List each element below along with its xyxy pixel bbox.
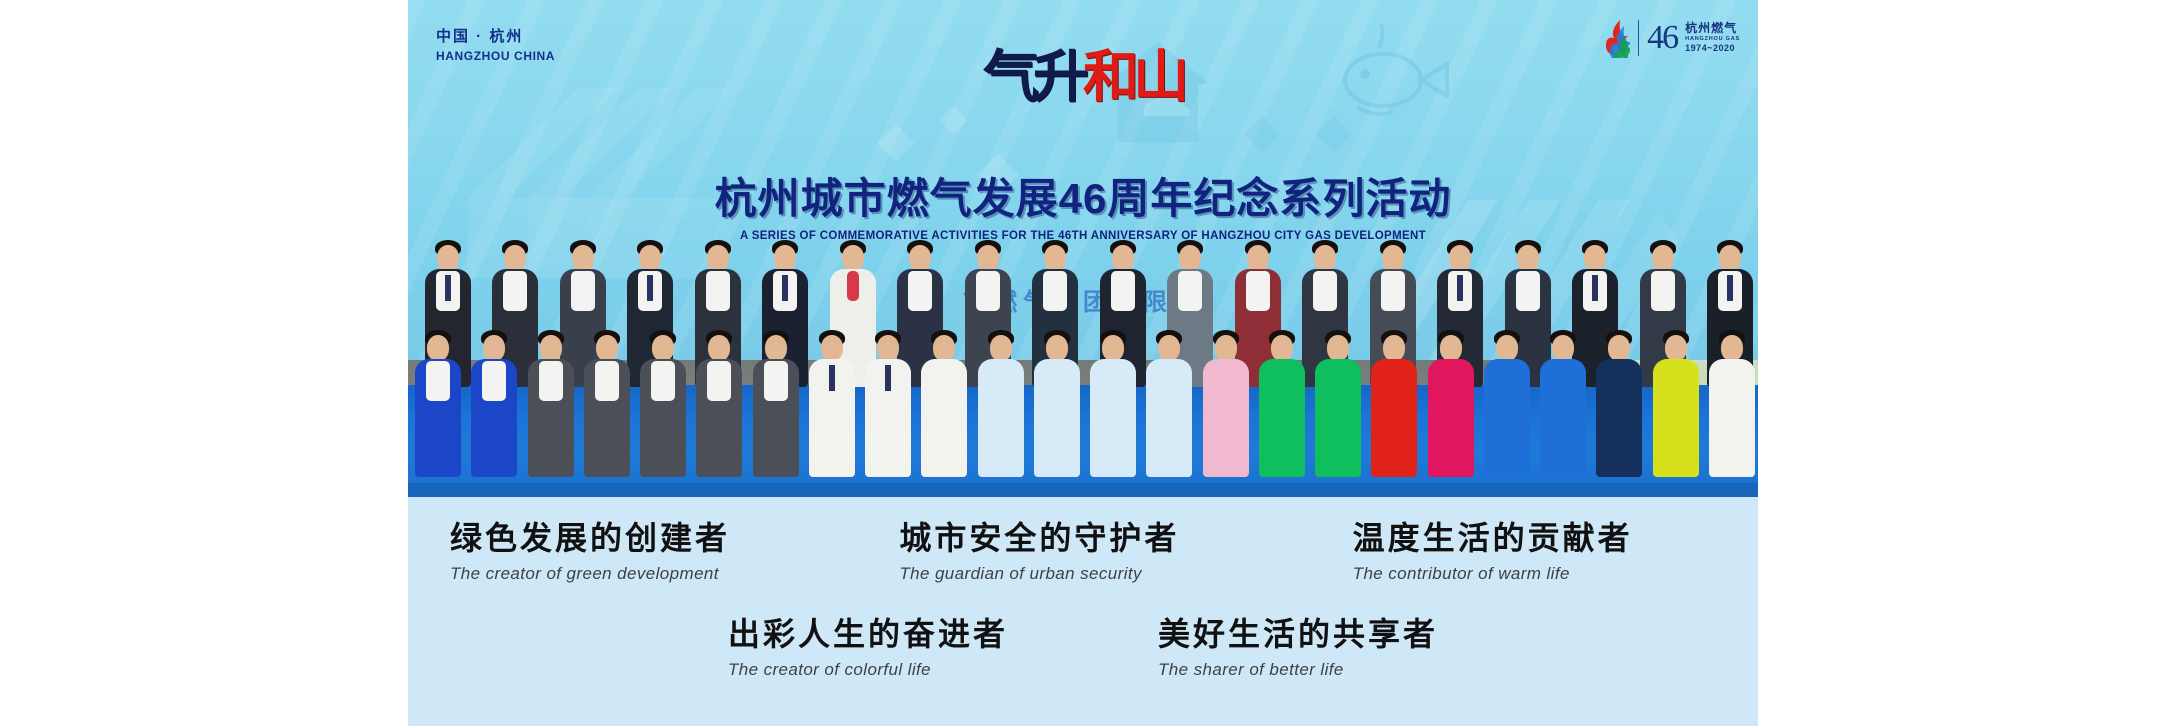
attendee — [973, 329, 1029, 479]
attendee — [748, 329, 804, 479]
slogan-row-2: 出彩人生的奋进者 The creator of colorful life 美好… — [408, 613, 1758, 680]
artistic-mark: 气升和山 — [408, 50, 1758, 106]
attendee — [1423, 329, 1479, 479]
poster-content: 中国 · 杭州 HANGZHOU CHINA 46 — [408, 0, 1758, 726]
attendee — [1366, 329, 1422, 479]
attendee — [1310, 329, 1366, 479]
attendee — [1141, 329, 1197, 479]
page-root: 中国 · 杭州 HANGZHOU CHINA 46 — [0, 0, 2179, 726]
attendee — [410, 329, 466, 479]
slogan-item-4: 出彩人生的奋进者 The creator of colorful life — [728, 613, 1008, 680]
attendee — [466, 329, 522, 479]
slogan-cn: 美好生活的共享者 — [1158, 613, 1438, 656]
attendee — [1648, 329, 1704, 479]
attendee — [1085, 329, 1141, 479]
attendee — [916, 329, 972, 479]
attendee — [1198, 329, 1254, 479]
artistic-mark-red: 和山 — [1083, 50, 1183, 106]
attendee — [804, 329, 860, 479]
attendee — [1479, 329, 1535, 479]
attendee — [635, 329, 691, 479]
logo-wordmark: 杭州燃气 HANGZHOU GAS 1974~2020 — [1685, 22, 1740, 53]
slogan-panel: 绿色发展的创建者 The creator of green developmen… — [408, 497, 1758, 726]
logo-brand-en: HANGZHOU GAS — [1685, 36, 1740, 42]
slogan-en: The creator of green development — [450, 564, 855, 584]
location-cn: 中国 · 杭州 — [436, 26, 555, 49]
logo-brand-cn: 杭州燃气 — [1685, 22, 1740, 36]
event-group-photo: 中国 · 杭州 HANGZHOU CHINA 46 — [408, 0, 1758, 497]
slogan-item-5: 美好生活的共享者 The sharer of better life — [1158, 613, 1438, 680]
attendee — [1254, 329, 1310, 479]
slogan-en: The creator of colorful life — [728, 660, 1008, 680]
attendee — [1535, 329, 1591, 479]
slogan-item-1: 绿色发展的创建者 The creator of green developmen… — [408, 517, 855, 584]
artistic-mark-dark: 气升 — [983, 50, 1083, 106]
slogan-cn: 温度生活的贡献者 — [1353, 517, 1758, 560]
slogan-cn: 出彩人生的奋进者 — [728, 613, 1008, 656]
attendee — [860, 329, 916, 479]
attendees-front-row — [408, 329, 1758, 479]
slogan-en: The guardian of urban security — [899, 564, 1304, 584]
slogan-cn: 绿色发展的创建者 — [450, 517, 855, 560]
slogan-row-1: 绿色发展的创建者 The creator of green developmen… — [408, 517, 1758, 584]
attendee — [1029, 329, 1085, 479]
slogan-item-3: 温度生活的贡献者 The contributor of warm life — [1305, 517, 1758, 584]
attendee — [579, 329, 635, 479]
slogan-en: The sharer of better life — [1158, 660, 1438, 680]
slogan-en: The contributor of warm life — [1353, 564, 1758, 584]
slogan-item-2: 城市安全的守护者 The guardian of urban security — [855, 517, 1304, 584]
attendee — [1704, 329, 1758, 479]
attendee — [691, 329, 747, 479]
slogan-cn: 城市安全的守护者 — [899, 517, 1304, 560]
attendee — [1591, 329, 1647, 479]
attendees-group — [408, 167, 1758, 497]
attendee — [523, 329, 579, 479]
